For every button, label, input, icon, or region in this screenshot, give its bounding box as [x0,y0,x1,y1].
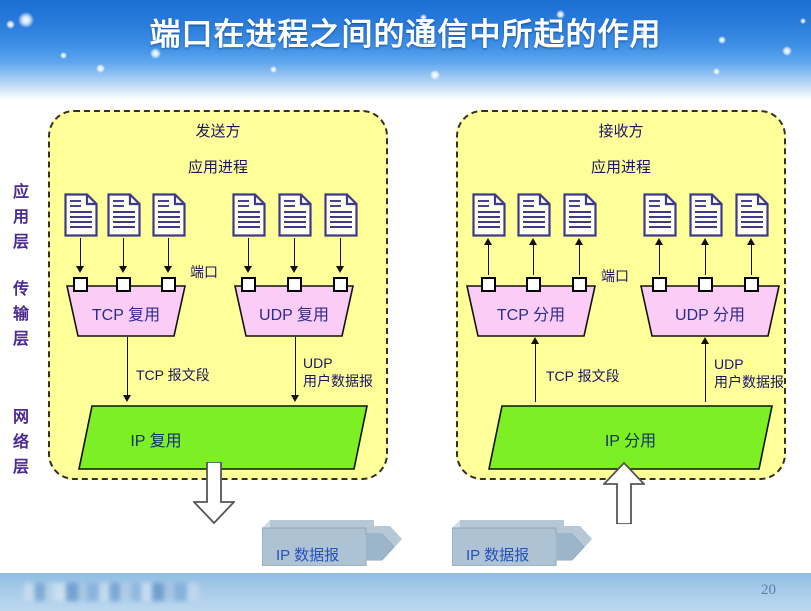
process-port-connector [340,238,341,268]
sender-outgoing-arrow-icon [193,462,235,524]
port-square [333,277,348,292]
arrow-head-down-icon [244,266,252,273]
sender-tcp-multiplexer: TCP 复用 [66,285,186,337]
process-port-connector [80,238,81,268]
port-square [161,277,176,292]
port-process-connector [659,245,660,275]
arrow-head-up-icon [531,337,539,344]
arrow-head-down-icon [291,395,299,402]
port-square [241,277,256,292]
receiver-subtitle: 应用进程 [458,156,784,177]
receiver-incoming-arrow-icon [603,462,645,524]
port-square [116,277,131,292]
process-port-connector [294,238,295,268]
receiver-tcp-segment-caption: TCP 报文段 [546,368,620,385]
arrow-head-down-icon [164,266,172,273]
sender-udp-datagram-caption-line2: 用户数据报 [303,373,373,390]
process-document-icon [472,193,506,237]
sender-ip-multiplexer: IP 复用 [78,405,368,470]
arrow-head-down-icon [76,266,84,273]
arrow-head-up-icon [655,238,663,245]
port-process-connector [705,245,706,275]
process-document-icon [107,193,141,237]
port-square [481,277,496,292]
sender-port-label: 端口 [190,262,218,282]
slide-canvas: 端口在进程之间的通信中所起的作用 应用层 传输层 网络层 发送方 应用进程 [0,0,811,611]
sparkle-icon [96,64,105,73]
port-process-connector [488,245,489,275]
sender-udp-multiplexer: UDP 复用 [234,285,354,337]
port-square [698,277,713,292]
page-title: 端口在进程之间的通信中所起的作用 [0,9,811,54]
receiver-udp-datagram-caption-line1: UDP [714,356,744,373]
port-square [73,277,88,292]
sender-udp-datagram-caption-line1: UDP [303,355,333,372]
sparkle-icon [430,70,440,80]
process-document-icon [152,193,186,237]
sender-ip-datagram-label: IP 数据报 [276,544,339,565]
port-process-connector [579,245,580,275]
layer-label-application: 应用层 [8,180,34,255]
port-square [526,277,541,292]
port-process-connector [533,245,534,275]
port-process-connector [751,245,752,275]
header-gradient-fade [0,62,811,100]
receiver-udp-datagram-caption-line2: 用户数据报 [714,374,784,391]
udp-datagram-connector [295,337,296,397]
port-square [652,277,667,292]
port-square [287,277,302,292]
sparkle-icon [270,66,277,73]
sender-title: 发送方 [50,120,386,141]
sender-subtitle: 应用进程 [50,156,386,177]
page-number: 20 [761,582,776,599]
process-port-connector [168,238,169,268]
slide-footer: 20 [0,573,811,611]
arrow-head-up-icon [701,337,709,344]
arrow-head-up-icon [747,238,755,245]
process-document-icon [735,193,769,237]
receiver-title: 接收方 [458,120,784,141]
arrow-head-down-icon [123,395,131,402]
arrow-head-down-icon [336,266,344,273]
sender-tcp-segment-caption: TCP 报文段 [136,367,210,384]
arrow-head-down-icon [119,266,127,273]
receiver-port-label: 端口 [601,266,629,286]
arrow-head-up-icon [484,238,492,245]
footer-watermark [24,583,199,601]
tcp-segment-connector [127,337,128,397]
process-document-icon [563,193,597,237]
process-document-icon [643,193,677,237]
arrow-head-up-icon [575,238,583,245]
process-port-connector [123,238,124,268]
layer-label-network: 网络层 [8,405,34,480]
process-port-connector [248,238,249,268]
arrow-head-up-icon [701,238,709,245]
udp-datagram-connector [705,344,706,402]
arrow-head-up-icon [529,238,537,245]
receiver-ip-datagram-label: IP 数据报 [466,544,529,565]
sparkle-icon [713,68,720,75]
layer-label-transport: 传输层 [8,277,34,352]
arrow-head-down-icon [290,266,298,273]
receiver-udp-demultiplexer: UDP 分用 [640,285,780,337]
receiver-ip-datagram-banner: IP 数据报 [452,520,592,566]
sender-ip-datagram-banner: IP 数据报 [262,520,402,566]
port-square [572,277,587,292]
process-document-icon [324,193,358,237]
process-document-icon [517,193,551,237]
process-document-icon [278,193,312,237]
port-square [744,277,759,292]
receiver-tcp-demultiplexer: TCP 分用 [466,285,596,337]
tcp-segment-connector [535,344,536,402]
receiver-ip-demultiplexer: IP 分用 [488,405,773,470]
process-document-icon [689,193,723,237]
process-document-icon [232,193,266,237]
process-document-icon [64,193,98,237]
